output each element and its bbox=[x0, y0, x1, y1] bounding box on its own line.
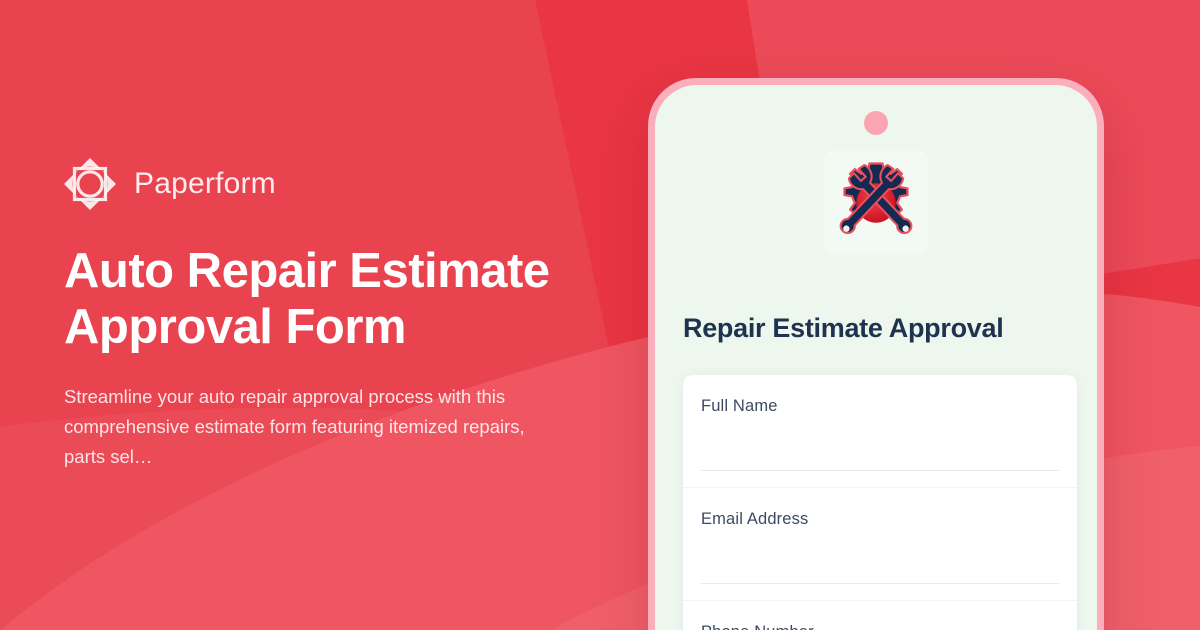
paperform-logo-icon bbox=[64, 158, 116, 210]
phone-screen: Repair Estimate Approval Full Name Email… bbox=[655, 85, 1097, 630]
form-card: Full Name Email Address Phone Number bbox=[683, 375, 1077, 630]
brand-lockup: Paperform bbox=[64, 158, 624, 210]
brand-name: Paperform bbox=[134, 167, 276, 201]
form-field-email-address[interactable]: Email Address bbox=[683, 488, 1077, 601]
hero-text-column: Paperform Auto Repair Estimate Approval … bbox=[64, 0, 624, 630]
form-logo-container bbox=[824, 151, 928, 255]
field-label: Full Name bbox=[701, 397, 1059, 416]
hero-description: Streamline your auto repair approval pro… bbox=[64, 382, 564, 472]
form-field-phone-number[interactable]: Phone Number bbox=[683, 601, 1077, 630]
camera-dot-icon bbox=[864, 111, 888, 135]
promo-banner: Paperform Auto Repair Estimate Approval … bbox=[0, 0, 1200, 630]
field-label: Phone Number bbox=[701, 623, 1059, 630]
form-field-full-name[interactable]: Full Name bbox=[683, 375, 1077, 488]
field-label: Email Address bbox=[701, 510, 1059, 529]
wrench-gear-logo-icon bbox=[829, 156, 923, 250]
email-address-input[interactable] bbox=[701, 583, 1059, 584]
form-title: Repair Estimate Approval bbox=[683, 313, 1003, 344]
full-name-input[interactable] bbox=[701, 470, 1059, 471]
phone-mockup: Repair Estimate Approval Full Name Email… bbox=[648, 78, 1104, 630]
page-title: Auto Repair Estimate Approval Form bbox=[64, 244, 584, 356]
